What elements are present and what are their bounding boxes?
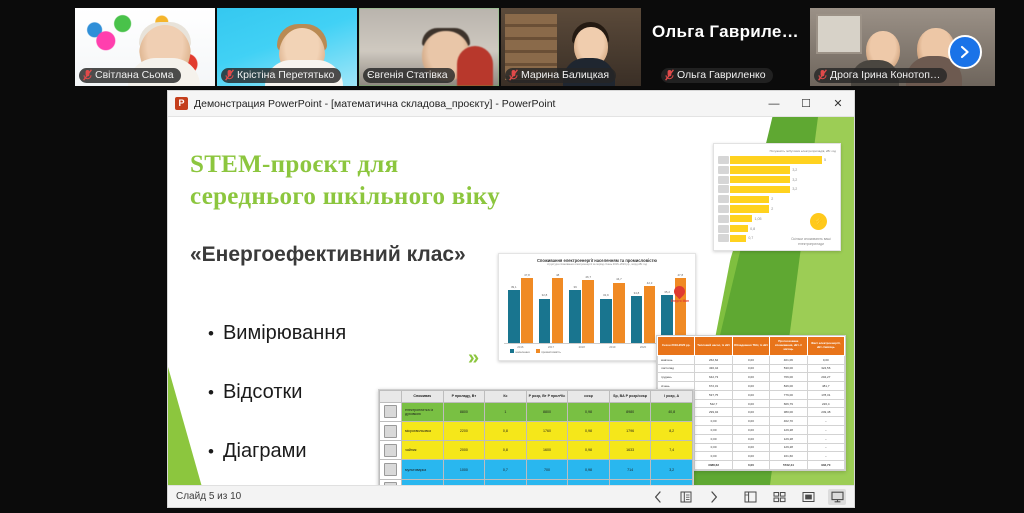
appliance-icon (718, 225, 729, 233)
months-table-cell: 481,7 (807, 382, 844, 391)
maximize-button[interactable]: ☐ (790, 91, 822, 117)
appliance-bar (730, 196, 769, 203)
consumer-table-cell: 0,8 (485, 422, 527, 441)
consumer-table-cell: мікрохвильовка (402, 422, 444, 441)
appliance-bar-value: 3,2 (792, 178, 797, 182)
consumption-bar: 32,9 (600, 299, 612, 343)
participant-name-3: Євгенія Статівка (367, 69, 448, 81)
consumption-bar: 46,7 (582, 280, 594, 343)
mic-off-icon (225, 69, 234, 81)
consumer-table-header: Sр, ВА P розр/cosφ (609, 391, 651, 403)
months-table-cell: 0,00 (732, 443, 769, 452)
months-table-cell: 0,00 (807, 355, 844, 364)
bullet-item-1: • Вимірювання (208, 322, 508, 345)
months-table-header: Факт електроенергії, кВт·г/місяць (807, 337, 844, 356)
legend-entry-2: промисловість (536, 349, 561, 354)
participant-tiles: Світлана Сьома Крістіна Перетятько (75, 8, 997, 86)
oven-icon (380, 402, 402, 421)
slide-title-line2: середнього шкільного віку (190, 181, 610, 213)
appliance-chart-caption: Скільки споживають ваші електроприлади (788, 237, 834, 247)
consumption-bar-label: 42,3 (647, 281, 653, 285)
consumer-table-cell: 40,8 (651, 402, 693, 421)
table-row: грудень642,730,00766,00204,27 (658, 373, 845, 382)
slide-number-label: Слайд 5 из 10 (176, 491, 649, 502)
consumer-table-cell: 0,98 (568, 460, 610, 479)
months-table-cell: грудень (658, 373, 695, 382)
microwave-icon (380, 422, 402, 441)
chevron-left-icon (654, 491, 662, 503)
chevron-right-icon (710, 491, 718, 503)
months-table-cell: 537,75 (695, 390, 732, 399)
participant-tile-5[interactable]: Ольга Гавриле… Ольга Гавриленко (643, 8, 808, 86)
view-reading-icon (802, 491, 815, 503)
months-table-cell: 666,79 (770, 399, 807, 408)
consumption-bar-label: 46,7 (585, 275, 591, 279)
months-table-cell: 0,00 (732, 364, 769, 373)
table-row: листопад430,440,00530,00324,56 (658, 364, 845, 373)
slide-title: STEM-проєкт для середнього шкільного вік… (190, 149, 610, 213)
consumption-bar-label: 47,8 (677, 273, 683, 277)
consumption-xtick: 2020 (631, 345, 656, 349)
appliance-bar (730, 156, 822, 163)
legend-entry-1: населення (510, 349, 530, 354)
months-table-cell: 129,28 (770, 443, 807, 452)
table-row: чайник20000,816000,9816337,4 (380, 441, 693, 460)
appliance-icon (718, 215, 729, 223)
reading-view-button[interactable] (799, 489, 817, 505)
minimize-button[interactable]: — (758, 91, 790, 117)
consumer-table-cell: 2000 (443, 441, 485, 460)
appliance-bar (730, 166, 790, 173)
slide-sorter-button[interactable] (770, 489, 788, 505)
consumer-table-header: P приладу, Вт (443, 391, 485, 403)
consumer-table-header: Кс (485, 391, 527, 403)
months-table-cell: жовтень (658, 355, 695, 364)
months-table-header: Обладнання ТЕН, tз кВт (732, 337, 769, 356)
location-pin-icon (672, 284, 688, 300)
appliance-bar-value: 0,7 (748, 236, 753, 240)
consumption-bar-label: 39 (574, 285, 577, 289)
appliance-bar-value: 2 (771, 207, 773, 211)
consumption-bar: 39 (569, 290, 581, 343)
appliance-bar-value: 5 (824, 158, 826, 162)
months-table-header: Тепловий насос, tз кВт (695, 337, 732, 356)
months-table-cell: 129,28 (770, 434, 807, 443)
bullet-text-1: Вимірювання (223, 322, 346, 345)
bullet-marker: • (208, 384, 214, 401)
slideshow-view-button[interactable] (828, 489, 846, 505)
consumer-table: СпоживачP приладу, ВтКсP розр, Вт P прил… (378, 389, 694, 487)
appliance-icon (718, 195, 729, 203)
mic-off-icon (509, 69, 518, 81)
months-table-cell: 0,00 (695, 417, 732, 426)
consumer-table-cell: 1 (485, 402, 527, 421)
consumption-bar-group: 32,848 (539, 278, 564, 343)
bullet-marker: • (208, 443, 214, 460)
months-table-cell: 0,00 (695, 426, 732, 435)
participant-tile-1[interactable]: Світлана Сьома (75, 8, 215, 86)
months-table-total-cell: 5732,44 (770, 461, 807, 470)
appliance-bar-value: 2 (771, 197, 773, 201)
slide-canvas[interactable]: STEM-проєкт для середнього шкільного вік… (168, 117, 854, 487)
months-table-total-cell: 3388,62 (695, 461, 732, 470)
lightning-icon: ⚡ (810, 213, 827, 230)
consumer-table-cell: 0,98 (568, 422, 610, 441)
participant-name-badge-6: Дрога Ірина Конотоп… (814, 68, 947, 83)
months-table-cell: 161,60 (770, 452, 807, 461)
appliance-icon (718, 176, 729, 184)
consumption-bar-label: 32,8 (542, 293, 548, 297)
participant-name-4: Марина Балицкая (521, 69, 609, 81)
decorative-arrow: » (468, 347, 475, 370)
months-table-header-row: Сезон 2019-2020 рр.Тепловий насос, tз кВ… (658, 337, 845, 356)
consumer-table-cell: мультиварка (402, 460, 444, 479)
appliance-icon (718, 185, 729, 193)
appliance-bar (730, 205, 769, 212)
appliance-chart-title: Потужність побутових електроприладів, кВ… (718, 149, 836, 153)
months-table-cell: 249,48 (807, 408, 844, 417)
bullet-text-3: Діаграми (223, 440, 307, 463)
months-table-cell: – (807, 434, 844, 443)
consumption-bar-label: 44,7 (616, 277, 622, 281)
months-table-cell: 0,00 (732, 390, 769, 399)
months-table-cell: 672,31 (695, 382, 732, 391)
consumer-table-header-row: СпоживачP приладу, ВтКсP розр, Вт P прил… (380, 391, 693, 403)
consumption-bar-label: 35,2 (664, 290, 670, 294)
table-row: мультиварка10000,77000,987143,2 (380, 460, 693, 479)
months-table-cell: 262,62 (695, 355, 732, 364)
months-table-cell: 542,7 (695, 399, 732, 408)
table-row: жовтень262,620,00401,060,00 (658, 355, 845, 364)
appliance-bar-row: 5 (718, 156, 836, 164)
consumer-table-cell: 1000 (443, 460, 485, 479)
participant-name-badge-5: Ольга Гавриленко (661, 68, 773, 83)
window-controls: — ☐ ✕ (758, 91, 854, 117)
months-table-cell: 0,00 (732, 399, 769, 408)
months-table-cell: 129,28 (770, 426, 807, 435)
consumption-bar: 39,1 (508, 290, 520, 343)
close-button[interactable]: ✕ (822, 91, 854, 117)
slide-navigation-group (649, 489, 723, 505)
months-table-cell: 530,00 (770, 364, 807, 373)
months-table-cell: 324,56 (807, 364, 844, 373)
consumer-table-cell: 714 (609, 460, 651, 479)
months-table-cell: – (807, 417, 844, 426)
months-table-cell: 401,06 (770, 355, 807, 364)
participant-tile-4[interactable]: Марина Балицкая (501, 8, 641, 86)
consumption-xtick: 2019 (600, 345, 625, 349)
months-table-cell: 0,00 (732, 355, 769, 364)
consumption-bar-label: 32,9 (603, 293, 609, 297)
view-slide-sorter-icon (773, 491, 786, 503)
months-table-cell: 0,00 (695, 434, 732, 443)
appliance-bar-value: 1,05 (754, 217, 761, 221)
consumption-bar-label: 34,8 (634, 291, 640, 295)
appliance-bar-value: 0,8 (750, 227, 755, 231)
powerpoint-status-bar: Слайд 5 из 10 (168, 485, 854, 507)
consumption-bar-label: 47,8 (524, 273, 530, 277)
appliance-icon (718, 205, 729, 213)
consumer-table-cell: 0,98 (568, 441, 610, 460)
next-slide-button[interactable] (705, 489, 723, 505)
previous-slide-button[interactable] (649, 489, 667, 505)
appliance-bar-chart: Потужність побутових електроприладів, кВ… (713, 143, 841, 251)
notes-icon (680, 491, 692, 503)
consumer-table-cell: 1760 (526, 422, 568, 441)
normal-view-button[interactable] (741, 489, 759, 505)
appliance-bar (730, 225, 748, 232)
view-normal-icon (744, 491, 757, 503)
appliance-bar-row: 2 (718, 195, 836, 203)
months-table-cell: 0,00 (695, 452, 732, 461)
appliance-bar (730, 235, 746, 242)
participant-tile-2[interactable]: Крістіна Перетятько (217, 8, 357, 86)
view-slideshow-icon (831, 491, 844, 503)
consumption-xtick: 2018 (569, 345, 594, 349)
participant-name-5: Ольга Гавриленко (677, 69, 766, 81)
window-title: Демонстрация PowerPoint - [математична с… (194, 98, 758, 110)
consumption-bar: 34,8 (631, 296, 643, 343)
table-row: електроплитка із духовкою8800188000,9889… (380, 402, 693, 421)
months-table-cell: 0,00 (732, 417, 769, 426)
months-table-cell: 0,00 (695, 443, 732, 452)
months-table-total-cell: 932,70 (807, 461, 844, 470)
months-table-cell: – (807, 452, 844, 461)
appliance-icon (718, 156, 729, 164)
months-table-cell: 380,00 (770, 408, 807, 417)
consumer-table-cell: 3,2 (651, 460, 693, 479)
consumer-table-cell: 7,4 (651, 441, 693, 460)
bullet-text-2: Відсотки (223, 381, 302, 404)
next-participants-button[interactable] (948, 35, 982, 69)
table-row: мікрохвильовка22000,817600,9817968,2 (380, 422, 693, 441)
window-titlebar[interactable]: P Демонстрация PowerPoint - [математична… (168, 91, 854, 117)
participant-name-badge-3: Євгенія Статівка (363, 68, 455, 83)
consumer-table-cell: 0,8 (485, 441, 527, 460)
months-table-cell: 299,04 (695, 408, 732, 417)
green-shape-bottom-left (168, 367, 202, 487)
appliance-bar-row: 3,2 (718, 176, 836, 184)
consumption-chart-subtitle: структура споживання електроенергії за п… (504, 263, 690, 266)
notes-button[interactable] (677, 489, 695, 505)
consumer-table-header (380, 391, 402, 403)
months-table-cell: 766,00 (770, 373, 807, 382)
consumption-bar-label: 48 (556, 273, 559, 277)
participant-tile-3[interactable]: Євгенія Статівка (359, 8, 499, 86)
months-table-header: Прогнозоване споживання, кВт·г/місяць (770, 337, 807, 356)
months-table-header: Сезон 2019-2020 рр. (658, 337, 695, 356)
consumption-bar-group: 32,944,7 (600, 283, 625, 343)
appliance-bar (730, 176, 790, 183)
appliance-bar-value: 3,2 (792, 187, 797, 191)
consumer-table-cell: 8980 (609, 402, 651, 421)
appliance-icon (718, 166, 729, 174)
participant-name-badge-1: Світлана Сьома (79, 68, 181, 83)
months-table-cell: 0,00 (732, 434, 769, 443)
consumer-table-cell: 0,7 (485, 460, 527, 479)
participant-name-badge-4: Марина Балицкая (505, 68, 616, 83)
appliance-bar-row: 2 (718, 205, 836, 213)
participant-name-2: Крістіна Перетятько (237, 69, 334, 81)
consumption-bar: 32,8 (539, 299, 551, 343)
participant-name-6: Дрога Ірина Конотоп… (830, 69, 940, 81)
appliance-bar (730, 215, 752, 222)
participant-name-badge-2: Крістіна Перетятько (221, 68, 341, 83)
consumer-table-header: I розр, А (651, 391, 693, 403)
months-table-cell: 430,44 (695, 364, 732, 373)
consumer-table-cell: 1633 (609, 441, 651, 460)
months-table-cell: листопад (658, 364, 695, 373)
months-table-cell: 846,00 (770, 382, 807, 391)
mic-off-icon (83, 69, 92, 81)
consumer-table-cell: 8800 (443, 402, 485, 421)
appliance-bar-row: 3,2 (718, 185, 836, 193)
months-table-cell: 204,27 (807, 373, 844, 382)
consumer-table-cell: 8800 (526, 402, 568, 421)
consumption-bar-label: 39,1 (511, 285, 517, 289)
appliance-bar-value: 3,2 (792, 168, 797, 172)
chevron-right-icon (959, 45, 971, 59)
months-table-cell: 0,00 (732, 382, 769, 391)
consumer-table-cell: 8,2 (651, 422, 693, 441)
consumer-table-cell: 2200 (443, 422, 485, 441)
consumption-bar: 44,7 (613, 283, 625, 343)
months-table-cell: 642,73 (695, 373, 732, 382)
consumer-table-cell: електроплитка із духовкою (402, 402, 444, 421)
consumer-table-body: електроплитка із духовкою8800188000,9889… (380, 402, 693, 487)
months-table-cell: 0,00 (732, 452, 769, 461)
months-table-cell: 178,31 (807, 390, 844, 399)
months-table-cell: 0,00 (732, 373, 769, 382)
consumption-bar: 42,3 (644, 286, 656, 343)
consumer-table-header: cosφ (568, 391, 610, 403)
consumption-bar: 48 (552, 278, 564, 343)
consumer-table-header: Споживач (402, 391, 444, 403)
consumer-table-cell: 700 (526, 460, 568, 479)
consumer-table-cell: 1600 (526, 441, 568, 460)
kettle-icon (380, 441, 402, 460)
slide-area: STEM-проєкт для середнього шкільного вік… (168, 117, 854, 487)
consumer-table-cell: 1796 (609, 422, 651, 441)
consumer-table-cell: 0,98 (568, 402, 610, 421)
video-filmstrip: Світлана Сьома Крістіна Перетятько (0, 0, 1024, 92)
powerpoint-window: P Демонстрация PowerPoint - [математична… (167, 90, 855, 508)
cooker-icon (380, 460, 402, 479)
consumer-table-cell: чайник (402, 441, 444, 460)
mic-off-icon (818, 69, 827, 81)
consumption-bar-group: 34,842,3 (631, 286, 656, 343)
participant-name-1: Світлана Сьома (95, 69, 174, 81)
slide-title-line1: STEM-проєкт для (190, 149, 610, 181)
appliance-bar (730, 186, 790, 193)
months-table-total-cell: 0,00 (732, 461, 769, 470)
energy-map-badge: Енерго Мап (671, 286, 689, 303)
months-table-cell: – (807, 443, 844, 452)
appliance-bar-row: 3,2 (718, 166, 836, 174)
powerpoint-icon: P (175, 97, 188, 110)
bullet-marker: • (208, 325, 214, 342)
consumer-table-header: P розр, Вт P прил*Кс (526, 391, 568, 403)
consumption-bar-group: 3946,7 (569, 280, 594, 343)
appliance-icon (718, 234, 729, 242)
consumption-bar: 47,8 (521, 278, 533, 343)
mic-off-icon (665, 69, 674, 81)
months-table-cell: – (807, 426, 844, 435)
months-table-cell: 776,00 (770, 390, 807, 399)
view-buttons-group (741, 489, 846, 505)
consumption-bar-group: 39,147,8 (508, 278, 533, 343)
months-table-cell: 0,00 (732, 426, 769, 435)
screen: Світлана Сьома Крістіна Перетятько (0, 0, 1024, 513)
energy-map-label: Енерго Мап (671, 299, 689, 303)
months-table-cell: 0,00 (732, 408, 769, 417)
months-table-cell: 226,4 (807, 399, 844, 408)
months-table-cell: 462,70 (770, 417, 807, 426)
consumption-chart-plot: 39,147,832,8483946,732,944,734,842,335,2… (504, 268, 690, 344)
participant-display-name-5: Ольга Гавриле… (643, 22, 808, 42)
